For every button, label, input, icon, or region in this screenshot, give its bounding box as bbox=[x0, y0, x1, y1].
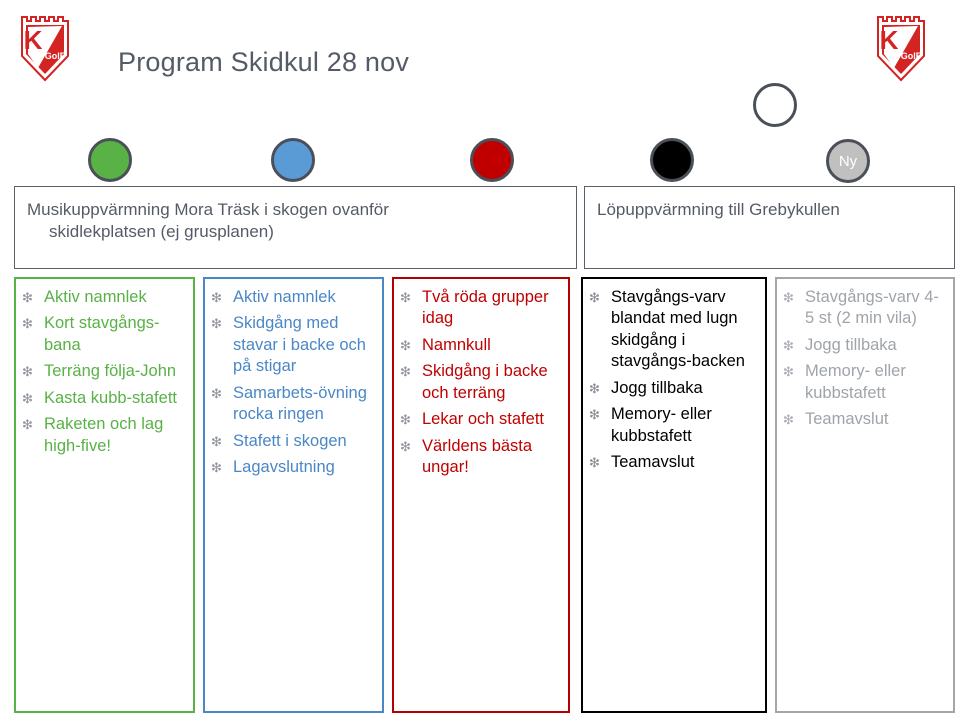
snowflake-bullet-icon: ❇ bbox=[589, 288, 600, 308]
activity-item-label: Aktiv namnlek bbox=[44, 288, 147, 306]
activity-item-label: Aktiv namnlek bbox=[233, 288, 336, 306]
activity-item: ❇Kasta kubb-stafett bbox=[22, 388, 187, 409]
activity-item: ❇Samarbets-övning rocka ringen bbox=[211, 383, 376, 426]
snowflake-bullet-icon: ❇ bbox=[211, 432, 222, 452]
activity-item-label: Namnkull bbox=[422, 336, 491, 354]
section-header-left: Musikuppvärmning Mora Träsk i skogen ova… bbox=[14, 186, 577, 269]
activity-item-label: Teamavslut bbox=[805, 410, 888, 428]
activity-item-label: Stavgångs-varv 4-5 st (2 min vila) bbox=[805, 288, 939, 327]
ny-badge-label: Ny bbox=[839, 154, 857, 169]
activity-item-label: Jogg tillbaka bbox=[611, 379, 703, 397]
snowflake-bullet-icon: ❇ bbox=[400, 437, 411, 457]
activity-item: ❇Aktiv namnlek bbox=[22, 287, 187, 308]
column-blue: ❇Aktiv namnlek❇Skidgång med stavar i bac… bbox=[203, 277, 384, 713]
activity-item: ❇Världens bästa ungar! bbox=[400, 436, 562, 479]
activity-item: ❇Skidgång i backe och terräng bbox=[400, 361, 562, 404]
activity-item-label: Lagavslutning bbox=[233, 458, 335, 476]
group-dot-gray-ny: Ny bbox=[826, 139, 870, 183]
activity-item: ❇Jogg tillbaka bbox=[589, 378, 759, 399]
activity-item-label: Skidgång med stavar i backe och på stiga… bbox=[233, 314, 366, 375]
svg-text:GolF: GolF bbox=[901, 51, 922, 61]
slide-canvas: K GolF K GolF Program Skidkul 28 nov Ny … bbox=[0, 0, 960, 720]
column-green: ❇Aktiv namnlek❇Kort stavgångs-bana❇Terrä… bbox=[14, 277, 195, 713]
snowflake-bullet-icon: ❇ bbox=[211, 314, 222, 334]
activity-item-label: Memory- eller kubbstafett bbox=[805, 362, 906, 401]
activity-item-label: Världens bästa ungar! bbox=[422, 437, 532, 476]
activity-item: ❇Aktiv namnlek bbox=[211, 287, 376, 308]
page-title: Program Skidkul 28 nov bbox=[118, 47, 409, 78]
activity-item-label: Skidgång i backe och terräng bbox=[422, 362, 548, 401]
activity-item: ❇Teamavslut bbox=[783, 409, 947, 430]
section-header-left-text: Musikuppvärmning Mora Träsk i skogen ova… bbox=[27, 199, 566, 244]
svg-text:K: K bbox=[880, 25, 899, 55]
snowflake-bullet-icon: ❇ bbox=[211, 458, 222, 478]
activity-item: ❇Lagavslutning bbox=[211, 457, 376, 478]
snowflake-bullet-icon: ❇ bbox=[400, 336, 411, 356]
activity-item: ❇Stavgångs-varv blandat med lugn skidgån… bbox=[589, 287, 759, 373]
activity-item-label: Kasta kubb-stafett bbox=[44, 389, 177, 407]
activity-item: ❇Memory- eller kubbstafett bbox=[783, 361, 947, 404]
snowflake-bullet-icon: ❇ bbox=[22, 415, 33, 435]
snowflake-bullet-icon: ❇ bbox=[400, 410, 411, 430]
activity-item: ❇Raketen och lag high-five! bbox=[22, 414, 187, 457]
column-gray: ❇Stavgångs-varv 4-5 st (2 min vila)❇Jogg… bbox=[775, 277, 955, 713]
activity-item: ❇Memory- eller kubbstafett bbox=[589, 404, 759, 447]
activity-item-label: Samarbets-övning rocka ringen bbox=[233, 384, 367, 423]
snowflake-bullet-icon: ❇ bbox=[589, 379, 600, 399]
section-header-right: Löpuppvärmning till Grebykullen bbox=[584, 186, 955, 269]
activity-item-label: Teamavslut bbox=[611, 453, 694, 471]
svg-text:K: K bbox=[24, 25, 43, 55]
activity-item: ❇Kort stavgångs-bana bbox=[22, 313, 187, 356]
k-golf-shield-logo-left: K GolF bbox=[16, 12, 74, 84]
snowflake-bullet-icon: ❇ bbox=[211, 384, 222, 404]
snowflake-bullet-icon: ❇ bbox=[400, 288, 411, 308]
section-header-left-line2: skidlekplatsen (ej grusplanen) bbox=[27, 221, 566, 243]
activity-item-label: Terräng följa-John bbox=[44, 362, 176, 380]
activity-item-label: Stafett i skogen bbox=[233, 432, 347, 450]
activity-item-label: Två röda grupper idag bbox=[422, 288, 549, 327]
activity-item: ❇Stavgångs-varv 4-5 st (2 min vila) bbox=[783, 287, 947, 330]
activity-item-label: Stavgångs-varv blandat med lugn skidgång… bbox=[611, 288, 745, 370]
group-dot-black bbox=[650, 138, 694, 182]
activity-item-label: Lekar och stafett bbox=[422, 410, 544, 428]
activity-item: ❇Namnkull bbox=[400, 335, 562, 356]
activity-item: ❇Jogg tillbaka bbox=[783, 335, 947, 356]
activity-item-label: Raketen och lag high-five! bbox=[44, 415, 163, 454]
snowflake-bullet-icon: ❇ bbox=[22, 389, 33, 409]
snowflake-bullet-icon: ❇ bbox=[783, 336, 794, 356]
svg-text:GolF: GolF bbox=[45, 51, 66, 61]
snowflake-bullet-icon: ❇ bbox=[211, 288, 222, 308]
activity-item: ❇Två röda grupper idag bbox=[400, 287, 562, 330]
section-header-right-text: Löpuppvärmning till Grebykullen bbox=[597, 199, 944, 221]
section-header-right-line1: Löpuppvärmning till Grebykullen bbox=[597, 200, 840, 219]
snowflake-bullet-icon: ❇ bbox=[783, 288, 794, 308]
group-dot-green bbox=[88, 138, 132, 182]
group-dot-blue bbox=[271, 138, 315, 182]
k-golf-shield-logo-right: K GolF bbox=[872, 12, 930, 84]
snowflake-bullet-icon: ❇ bbox=[589, 453, 600, 473]
section-header-left-line1: Musikuppvärmning Mora Träsk i skogen ova… bbox=[27, 200, 389, 219]
column-black: ❇Stavgångs-varv blandat med lugn skidgån… bbox=[581, 277, 767, 713]
snowflake-bullet-icon: ❇ bbox=[22, 314, 33, 334]
snowflake-bullet-icon: ❇ bbox=[22, 288, 33, 308]
activity-item-label: Memory- eller kubbstafett bbox=[611, 405, 712, 444]
snowflake-bullet-icon: ❇ bbox=[22, 362, 33, 382]
snowflake-bullet-icon: ❇ bbox=[589, 405, 600, 425]
activity-item: ❇Terräng följa-John bbox=[22, 361, 187, 382]
snowflake-bullet-icon: ❇ bbox=[400, 362, 411, 382]
activity-item: ❇Skidgång med stavar i backe och på stig… bbox=[211, 313, 376, 377]
activity-item-label: Kort stavgångs-bana bbox=[44, 314, 160, 353]
activity-list-red: ❇Två röda grupper idag❇Namnkull❇Skidgång… bbox=[400, 287, 562, 479]
activity-item: ❇Teamavslut bbox=[589, 452, 759, 473]
activity-list-blue: ❇Aktiv namnlek❇Skidgång med stavar i bac… bbox=[211, 287, 376, 479]
activity-item: ❇Lekar och stafett bbox=[400, 409, 562, 430]
column-red: ❇Två röda grupper idag❇Namnkull❇Skidgång… bbox=[392, 277, 570, 713]
group-dot-hollow bbox=[753, 83, 797, 127]
activity-list-green: ❇Aktiv namnlek❇Kort stavgångs-bana❇Terrä… bbox=[22, 287, 187, 457]
snowflake-bullet-icon: ❇ bbox=[783, 362, 794, 382]
activity-list-black: ❇Stavgångs-varv blandat med lugn skidgån… bbox=[589, 287, 759, 474]
activity-item-label: Jogg tillbaka bbox=[805, 336, 897, 354]
activity-list-gray: ❇Stavgångs-varv 4-5 st (2 min vila)❇Jogg… bbox=[783, 287, 947, 431]
group-dot-red bbox=[470, 138, 514, 182]
activity-item: ❇Stafett i skogen bbox=[211, 431, 376, 452]
snowflake-bullet-icon: ❇ bbox=[783, 410, 794, 430]
